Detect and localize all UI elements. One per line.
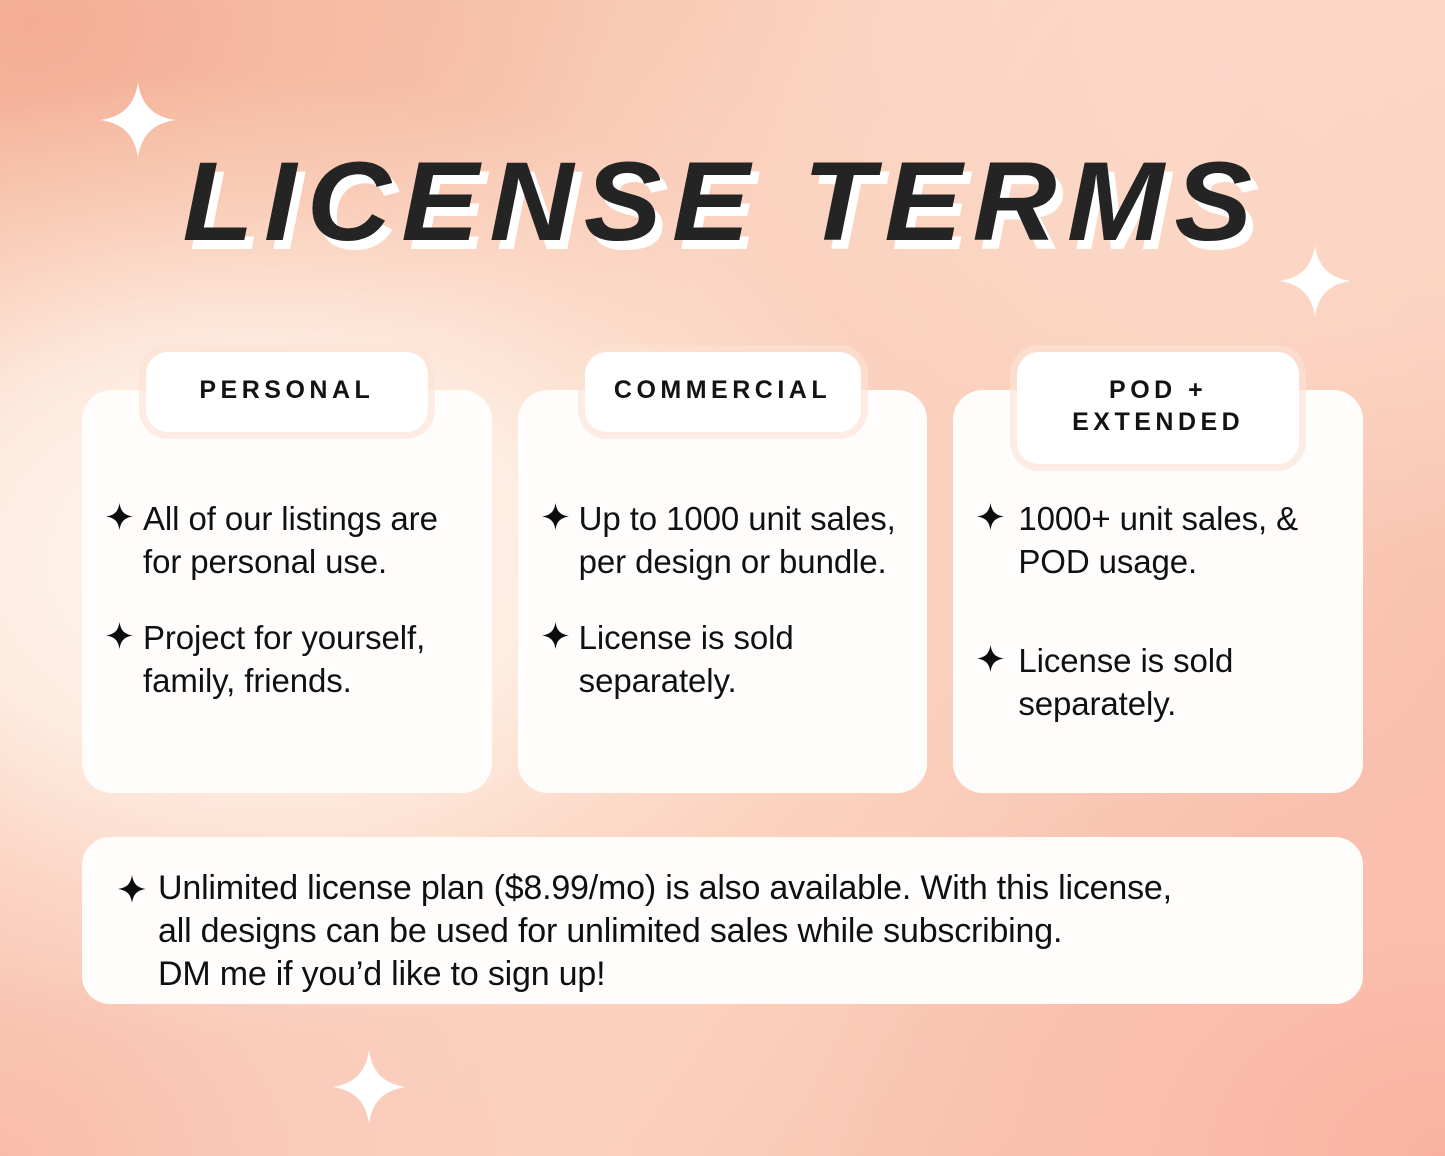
list-item-label: Project for yourself, family, friends. xyxy=(143,617,470,703)
license-card-pod-extended: 1000+ unit sales, & POD usage. License i… xyxy=(953,352,1363,793)
bullet-list-personal: All of our listings are for personal use… xyxy=(106,498,470,703)
sparkle-bullet-icon xyxy=(542,503,569,530)
list-item: Project for yourself, family, friends. xyxy=(106,617,470,703)
list-item-label: License is sold separately. xyxy=(1018,640,1341,726)
list-item-label: License is sold separately. xyxy=(579,617,906,703)
banner-line-2: all designs can be used for unlimited sa… xyxy=(158,910,1323,953)
list-item-label: 1000+ unit sales, & POD usage. xyxy=(1018,498,1341,584)
list-item: License is sold separately. xyxy=(542,617,906,703)
sparkle-bullet-icon xyxy=(977,645,1004,672)
unlimited-plan-banner: Unlimited license plan ($8.99/mo) is als… xyxy=(82,837,1363,1004)
list-item: 1000+ unit sales, & POD usage. xyxy=(977,498,1341,584)
sparkle-bullet-icon xyxy=(977,503,1004,530)
card-tab-label-line1: POD + xyxy=(1045,374,1271,406)
card-tab-personal[interactable]: PERSONAL xyxy=(146,352,428,432)
sparkle-bullet-icon xyxy=(106,503,133,530)
license-card-personal: All of our listings are for personal use… xyxy=(82,352,492,793)
unlimited-plan-text: Unlimited license plan ($8.99/mo) is als… xyxy=(158,867,1323,997)
card-tab-label: PERSONAL xyxy=(174,374,400,406)
license-card-commercial: Up to 1000 unit sales, per design or bun… xyxy=(518,352,928,793)
sparkle-bullet-icon xyxy=(106,622,133,649)
card-tab-label-line2: EXTENDED xyxy=(1045,406,1271,438)
card-tab-pod-extended[interactable]: POD + EXTENDED xyxy=(1017,352,1299,464)
sparkle-bullet-icon xyxy=(542,622,569,649)
list-item-label: Up to 1000 unit sales, per design or bun… xyxy=(579,498,906,584)
bullet-list-commercial: Up to 1000 unit sales, per design or bun… xyxy=(542,498,906,703)
card-tab-label: COMMERCIAL xyxy=(613,374,833,406)
list-item: Up to 1000 unit sales, per design or bun… xyxy=(542,498,906,584)
card-body-personal: All of our listings are for personal use… xyxy=(82,390,492,793)
bullet-list-pod-extended: 1000+ unit sales, & POD usage. License i… xyxy=(977,498,1341,726)
list-item: License is sold separately. xyxy=(977,640,1341,726)
list-item-label: All of our listings are for personal use… xyxy=(143,498,470,584)
sparkle-bullet-icon xyxy=(118,875,146,903)
list-item: All of our listings are for personal use… xyxy=(106,498,470,584)
banner-line-3: DM me if you’d like to sign up! xyxy=(158,953,1323,996)
license-tier-cards: All of our listings are for personal use… xyxy=(82,352,1363,793)
page-title: LICENSE TERMS xyxy=(0,146,1445,258)
banner-line-1: Unlimited license plan ($8.99/mo) is als… xyxy=(158,867,1323,910)
card-tab-commercial[interactable]: COMMERCIAL xyxy=(585,352,861,432)
card-body-commercial: Up to 1000 unit sales, per design or bun… xyxy=(518,390,928,793)
